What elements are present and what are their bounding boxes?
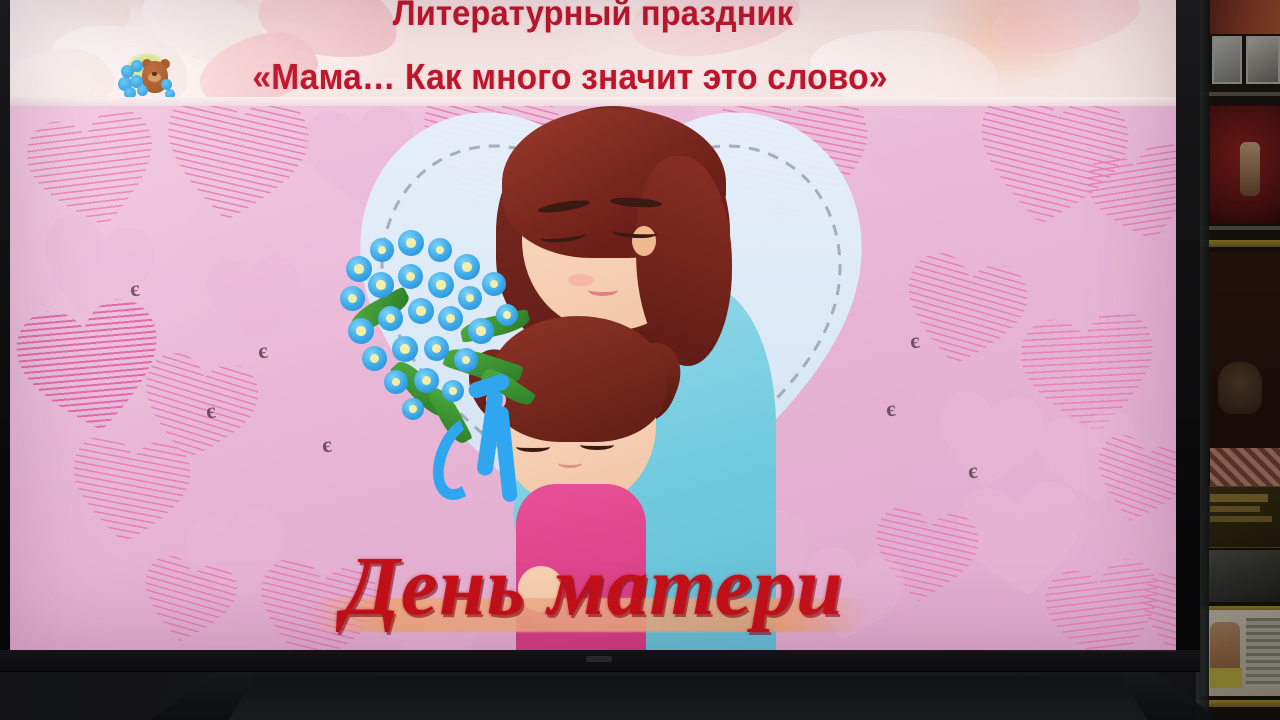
slide-header: Литературный праздник «Мама… Как много з… <box>10 0 1176 106</box>
screenshot-scene: Литературный праздник «Мама… Как много з… <box>0 0 1280 720</box>
tv-brand-logo <box>586 656 612 662</box>
presentation-slide: Литературный праздник «Мама… Как много з… <box>10 0 1176 652</box>
header-divider <box>10 97 1176 106</box>
squiggle-mark: є <box>256 337 269 364</box>
forget-me-not-bouquet <box>340 228 570 478</box>
slide-body: єєєєєєєє <box>10 106 1176 652</box>
squiggle-mark: є <box>966 457 979 484</box>
slide-title: День матери <box>10 538 1176 635</box>
squiggle-mark: є <box>128 275 141 302</box>
squiggle-mark: є <box>204 397 217 424</box>
slide-header-line1: Литературный праздник <box>51 0 1135 34</box>
tv-screen[interactable]: Литературный праздник «Мама… Как много з… <box>10 0 1176 652</box>
slide-header-line2: «Мама… Как много значит это слово» <box>68 56 1072 98</box>
tv-stand-inner <box>228 676 1148 720</box>
bookshelf-right <box>1196 0 1280 720</box>
